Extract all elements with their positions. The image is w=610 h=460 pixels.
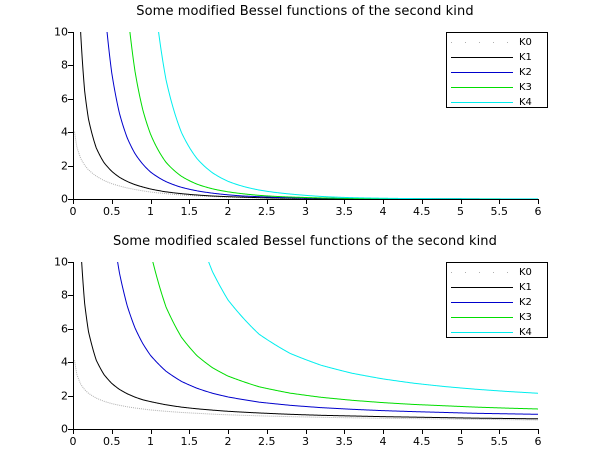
x-tick-label: 4.5: [413, 435, 431, 448]
y-tick-label: 6: [33, 92, 68, 105]
x-tick-label: 5: [457, 205, 464, 218]
y-tick-label: 4: [33, 356, 68, 369]
x-tick-mark: [538, 199, 539, 204]
x-tick-label: 3: [302, 205, 309, 218]
x-tick-label: 4.5: [413, 205, 431, 218]
x-tick-label: 6: [535, 205, 542, 218]
x-tick-mark: [461, 429, 462, 434]
x-tick-mark: [267, 199, 268, 204]
x-tick-label: 1: [147, 435, 154, 448]
x-tick-mark: [499, 199, 500, 204]
legend-label-K1: K1: [519, 50, 532, 65]
legend-label-K2: K2: [519, 65, 532, 80]
legend-label-K4: K4: [519, 325, 532, 340]
legend-label-K0: K0: [519, 35, 532, 50]
legend: K0K1K2K3K4: [446, 32, 548, 108]
x-tick-label: 1.5: [181, 435, 199, 448]
legend-swatch-K3: [451, 317, 513, 318]
x-tick-mark: [422, 429, 423, 434]
x-tick-label: 4: [380, 205, 387, 218]
x-tick-mark: [306, 429, 307, 434]
y-tick-label: 2: [33, 389, 68, 402]
x-tick-label: 1.5: [181, 205, 199, 218]
y-tick-label: 0: [33, 193, 68, 206]
legend-label-K2: K2: [519, 295, 532, 310]
y-tick-label: 8: [33, 59, 68, 72]
x-tick-label: 5.5: [491, 205, 509, 218]
legend-label-K3: K3: [519, 80, 532, 95]
legend-item-K1: K1: [447, 280, 547, 295]
x-tick-label: 5: [457, 435, 464, 448]
legend-item-K4: K4: [447, 325, 547, 340]
x-tick-label: 2: [225, 205, 232, 218]
legend-item-K3: K3: [447, 310, 547, 325]
x-tick-mark: [383, 199, 384, 204]
chart-panel-lower: Some modified scaled Bessel functions of…: [0, 230, 610, 460]
x-tick-mark: [228, 199, 229, 204]
y-tick-label: 4: [33, 126, 68, 139]
legend-swatch-K0: [451, 272, 513, 273]
x-tick-mark: [422, 199, 423, 204]
legend-swatch-K1: [451, 287, 513, 288]
x-tick-mark: [112, 429, 113, 434]
x-tick-label: 4: [380, 435, 387, 448]
y-tick-label: 8: [33, 289, 68, 302]
x-tick-mark: [189, 199, 190, 204]
legend-item-K2: K2: [447, 65, 547, 80]
y-tick-label: 6: [33, 322, 68, 335]
x-tick-label: 0.5: [103, 205, 121, 218]
y-tick-label: 2: [33, 159, 68, 172]
x-tick-label: 2.5: [258, 205, 276, 218]
legend-swatch-K2: [451, 72, 513, 73]
x-tick-mark: [73, 199, 74, 204]
x-tick-mark: [189, 429, 190, 434]
page-title-secondary: Some modified scaled Bessel functions of…: [0, 234, 610, 249]
legend-item-K0: K0: [447, 265, 547, 280]
page-title: Some modified Bessel functions of the se…: [0, 4, 610, 19]
y-tick-label: 10: [33, 26, 68, 39]
legend-swatch-K1: [451, 57, 513, 58]
legend-item-K3: K3: [447, 80, 547, 95]
x-tick-mark: [461, 199, 462, 204]
chart-panel-upper: Some modified Bessel functions of the se…: [0, 0, 610, 230]
legend-item-K1: K1: [447, 50, 547, 65]
legend-label-K0: K0: [519, 265, 532, 280]
series-line-K0: [75, 360, 538, 420]
x-tick-mark: [499, 429, 500, 434]
x-tick-mark: [344, 429, 345, 434]
legend-label-K4: K4: [519, 95, 532, 110]
legend-swatch-K4: [451, 332, 513, 333]
legend-swatch-K2: [451, 302, 513, 303]
x-tick-label: 3.5: [336, 435, 354, 448]
y-tick-label: 10: [33, 256, 68, 269]
x-tick-mark: [383, 429, 384, 434]
x-tick-label: 1: [147, 205, 154, 218]
x-tick-mark: [73, 429, 74, 434]
x-tick-mark: [306, 199, 307, 204]
x-tick-mark: [267, 429, 268, 434]
legend-label-K3: K3: [519, 310, 532, 325]
x-tick-label: 6: [535, 435, 542, 448]
legend-swatch-K0: [451, 42, 513, 43]
x-tick-mark: [344, 199, 345, 204]
x-tick-label: 3: [302, 435, 309, 448]
legend-swatch-K3: [451, 87, 513, 88]
x-tick-mark: [538, 429, 539, 434]
legend: K0K1K2K3K4: [446, 262, 548, 338]
x-tick-label: 2: [225, 435, 232, 448]
legend-item-K4: K4: [447, 95, 547, 110]
y-tick-label: 0: [33, 423, 68, 436]
legend-item-K2: K2: [447, 295, 547, 310]
x-tick-label: 5.5: [491, 435, 509, 448]
x-tick-label: 0.5: [103, 435, 121, 448]
legend-swatch-K4: [451, 102, 513, 103]
legend-item-K0: K0: [447, 35, 547, 50]
x-tick-label: 2.5: [258, 435, 276, 448]
x-tick-label: 3.5: [336, 205, 354, 218]
x-tick-label: 0: [70, 205, 77, 218]
x-tick-mark: [151, 429, 152, 434]
x-tick-mark: [151, 199, 152, 204]
x-tick-label: 0: [70, 435, 77, 448]
x-tick-mark: [228, 429, 229, 434]
x-tick-mark: [112, 199, 113, 204]
legend-label-K1: K1: [519, 280, 532, 295]
